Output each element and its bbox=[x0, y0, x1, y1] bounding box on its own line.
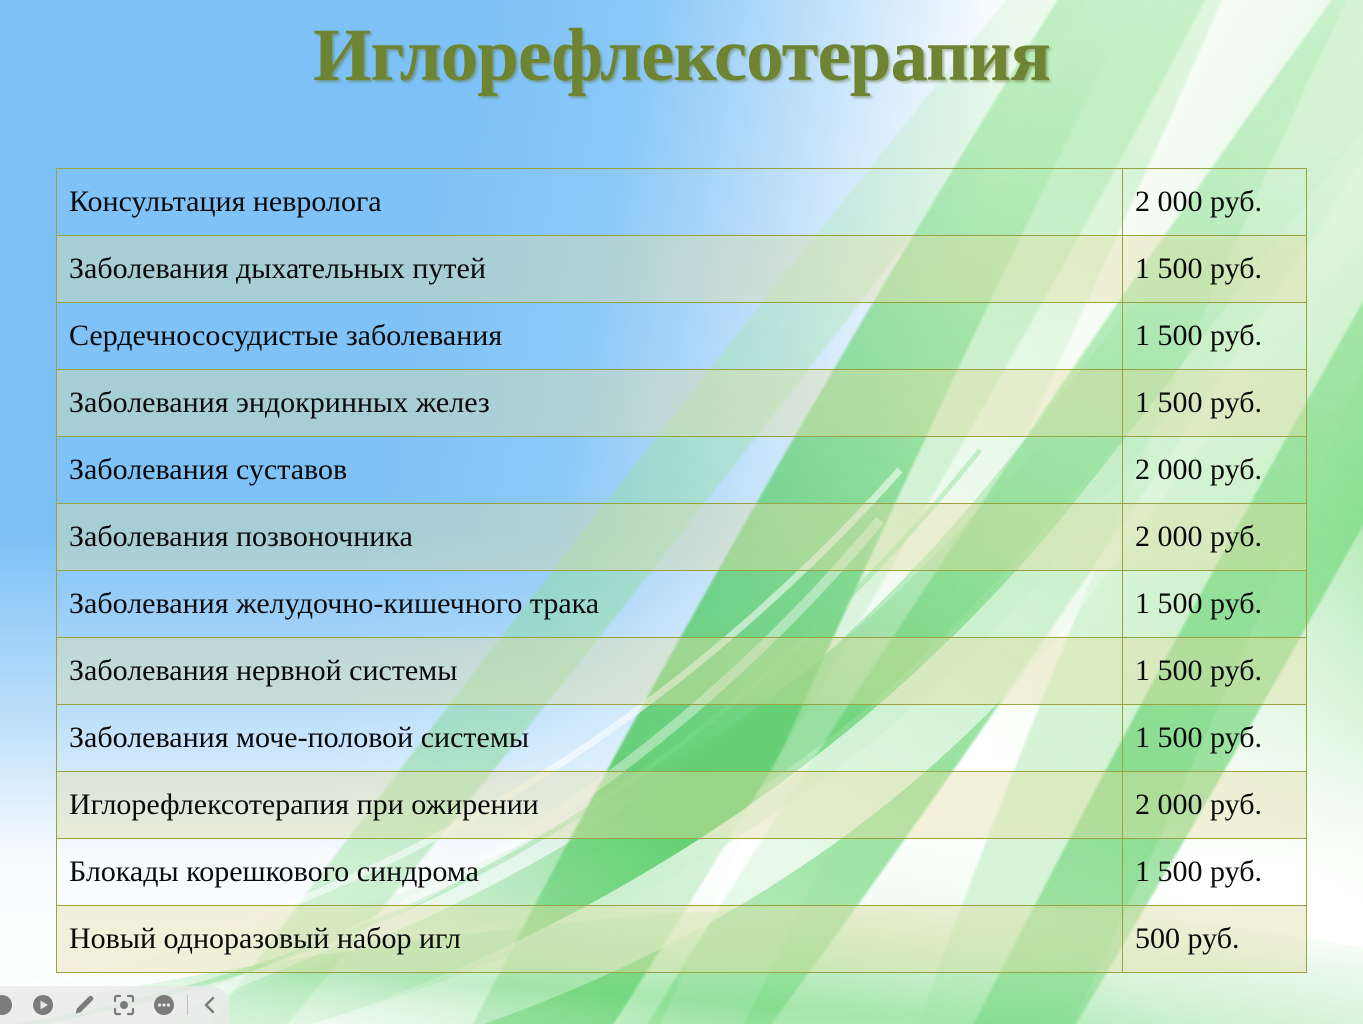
table-row: Консультация невролога 2 000 руб. bbox=[57, 169, 1307, 236]
slide-canvas: Иглорефлексотерапия Консультация невроло… bbox=[0, 0, 1363, 1024]
service-price-cell: 2 000 руб. bbox=[1123, 169, 1307, 236]
table-row: Иглорефлексотерапия при ожирении 2 000 р… bbox=[57, 772, 1307, 839]
service-price-cell: 1 500 руб. bbox=[1123, 571, 1307, 638]
pen-icon[interactable] bbox=[63, 986, 104, 1024]
page-title: Иглорефлексотерапия bbox=[0, 16, 1363, 96]
table-row: Новый одноразовый набор игл 500 руб. bbox=[57, 906, 1307, 973]
service-name-cell: Заболевания эндокринных желез bbox=[57, 370, 1123, 437]
laser-pointer-icon[interactable] bbox=[104, 986, 145, 1024]
service-price-cell: 1 500 руб. bbox=[1123, 236, 1307, 303]
service-price-cell: 1 500 руб. bbox=[1123, 839, 1307, 906]
service-name-cell: Блокады корешкового синдрома bbox=[57, 839, 1123, 906]
service-price-cell: 2 000 руб. bbox=[1123, 772, 1307, 839]
table-row: Заболевания нервной системы 1 500 руб. bbox=[57, 638, 1307, 705]
service-price-cell: 2 000 руб. bbox=[1123, 504, 1307, 571]
service-price-cell: 2 000 руб. bbox=[1123, 437, 1307, 504]
service-price-cell: 1 500 руб. bbox=[1123, 370, 1307, 437]
table-row: Заболевания желудочно-кишечного трака 1 … bbox=[57, 571, 1307, 638]
service-name-cell: Заболевания дыхательных путей bbox=[57, 236, 1123, 303]
presentation-toolbar[interactable] bbox=[0, 986, 230, 1024]
service-name-cell: Заболевания нервной системы bbox=[57, 638, 1123, 705]
service-name-cell: Заболевания моче-половой системы bbox=[57, 705, 1123, 772]
table-row: Заболевания эндокринных желез 1 500 руб. bbox=[57, 370, 1307, 437]
table-row: Заболевания дыхательных путей 1 500 руб. bbox=[57, 236, 1307, 303]
service-price-cell: 1 500 руб. bbox=[1123, 638, 1307, 705]
service-name-cell: Сердечнососудистые заболевания bbox=[57, 303, 1123, 370]
price-table-body: Консультация невролога 2 000 руб. Заболе… bbox=[57, 169, 1307, 973]
service-name-cell: Заболевания суставов bbox=[57, 437, 1123, 504]
service-name-cell: Заболевания желудочно-кишечного трака bbox=[57, 571, 1123, 638]
toolbar-divider bbox=[187, 995, 188, 1015]
price-table: Консультация невролога 2 000 руб. Заболе… bbox=[56, 168, 1307, 973]
service-name-cell: Консультация невролога bbox=[57, 169, 1123, 236]
more-options-icon[interactable] bbox=[144, 986, 185, 1024]
service-price-cell: 1 500 руб. bbox=[1123, 303, 1307, 370]
table-row: Заболевания позвоночника 2 000 руб. bbox=[57, 504, 1307, 571]
service-price-cell: 500 руб. bbox=[1123, 906, 1307, 973]
service-name-cell: Новый одноразовый набор игл bbox=[57, 906, 1123, 973]
table-row: Блокады корешкового синдрома 1 500 руб. bbox=[57, 839, 1307, 906]
table-row: Заболевания моче-половой системы 1 500 р… bbox=[57, 705, 1307, 772]
service-price-cell: 1 500 руб. bbox=[1123, 705, 1307, 772]
circle-icon[interactable] bbox=[0, 986, 23, 1024]
service-name-cell: Заболевания позвоночника bbox=[57, 504, 1123, 571]
service-name-cell: Иглорефлексотерапия при ожирении bbox=[57, 772, 1123, 839]
play-icon[interactable] bbox=[23, 986, 64, 1024]
table-row: Сердечнососудистые заболевания 1 500 руб… bbox=[57, 303, 1307, 370]
chevron-left-icon[interactable] bbox=[190, 986, 231, 1024]
table-row: Заболевания суставов 2 000 руб. bbox=[57, 437, 1307, 504]
